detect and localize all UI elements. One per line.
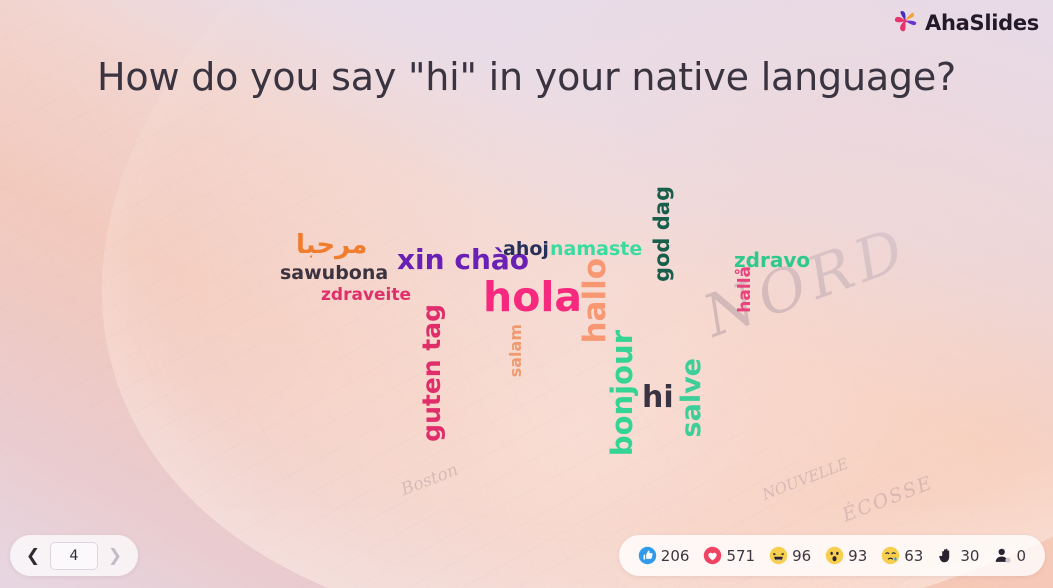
reaction-surprised[interactable]: 93 bbox=[820, 546, 872, 565]
crying-icon[interactable] bbox=[881, 546, 900, 565]
word-cloud-item: namaste bbox=[550, 240, 642, 259]
reaction-count: 93 bbox=[848, 547, 867, 565]
reaction-count: 206 bbox=[661, 547, 690, 565]
slide-pager[interactable]: ❮ 4 ❯ bbox=[10, 535, 138, 576]
word-cloud-item: god dag bbox=[652, 186, 673, 282]
reaction-bar[interactable]: 206571969363300 bbox=[619, 535, 1045, 576]
word-cloud-item: salam bbox=[508, 324, 524, 377]
reaction-count: 0 bbox=[1016, 547, 1026, 565]
word-cloud-item: salve bbox=[678, 358, 705, 437]
word-cloud-item: hola bbox=[483, 277, 582, 318]
reaction-heart[interactable]: 571 bbox=[698, 546, 760, 565]
person-icon[interactable] bbox=[993, 546, 1012, 565]
word-cloud-item: مرحبا bbox=[296, 232, 367, 258]
chevron-left-icon[interactable]: ❮ bbox=[22, 543, 44, 569]
word-cloud-item: zdraveite bbox=[321, 287, 411, 304]
presentation-slide: NORD Boston ÉCOSSE NOUVELLE AhaSlides Ho… bbox=[0, 0, 1053, 588]
word-cloud-item: ahoj bbox=[503, 240, 549, 259]
word-cloud-item: hi bbox=[642, 383, 674, 413]
word-cloud-item: sawubona bbox=[280, 264, 388, 283]
surprised-icon[interactable] bbox=[825, 546, 844, 565]
word-cloud-item: bonjour bbox=[608, 330, 637, 456]
thumbs-up-icon[interactable] bbox=[638, 546, 657, 565]
reaction-crying[interactable]: 63 bbox=[876, 546, 928, 565]
heart-icon[interactable] bbox=[703, 546, 722, 565]
reaction-thumbs-up[interactable]: 206 bbox=[633, 546, 695, 565]
reaction-count: 63 bbox=[904, 547, 923, 565]
word-cloud: مرحباsawubonazdraveitexin chàoahojnamast… bbox=[0, 0, 1053, 588]
word-cloud-item: hallå bbox=[737, 266, 754, 313]
reaction-count: 30 bbox=[960, 547, 979, 565]
page-number-input[interactable]: 4 bbox=[50, 542, 98, 570]
laughing-icon[interactable] bbox=[769, 546, 788, 565]
reaction-raised-hand[interactable]: 30 bbox=[932, 546, 984, 565]
word-cloud-item: guten tag bbox=[419, 304, 444, 442]
reaction-laughing[interactable]: 96 bbox=[764, 546, 816, 565]
reaction-person[interactable]: 0 bbox=[988, 546, 1031, 565]
raised-hand-icon[interactable] bbox=[937, 546, 956, 565]
reaction-count: 571 bbox=[726, 547, 755, 565]
reaction-count: 96 bbox=[792, 547, 811, 565]
chevron-right-icon[interactable]: ❯ bbox=[104, 543, 126, 569]
